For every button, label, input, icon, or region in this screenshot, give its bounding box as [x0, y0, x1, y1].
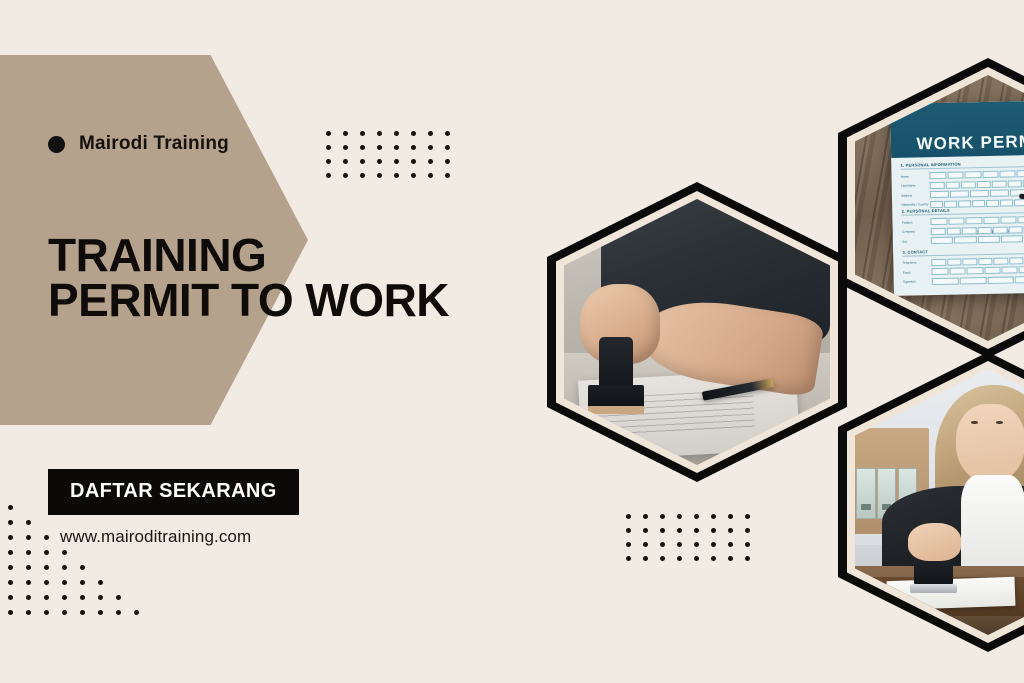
grid-dot	[660, 514, 665, 519]
page-title: TRAINING PERMIT TO WORK	[48, 233, 568, 323]
form-field-boxes	[931, 225, 1024, 235]
dot-row	[8, 610, 152, 625]
binder	[856, 468, 876, 519]
dot-grid-middle	[626, 514, 762, 570]
grid-dot	[677, 542, 682, 547]
filled-circle-icon	[48, 136, 65, 153]
grid-dot	[8, 535, 13, 540]
dot-row	[8, 550, 152, 565]
photo-hex-hand-stamping	[547, 182, 847, 482]
headline-line-1: TRAINING	[48, 229, 266, 281]
grid-dot	[98, 580, 103, 585]
grid-dot	[626, 528, 631, 533]
form-field-row: Name	[901, 169, 1024, 180]
form-section-2: 2. PERSONAL DETAILS Position Company Sex	[902, 205, 1024, 247]
grid-dot	[728, 528, 733, 533]
form-field-label: Last Name	[901, 183, 928, 188]
grid-dot	[694, 514, 699, 519]
form-field-label: Company	[902, 229, 929, 234]
dot-row	[8, 595, 152, 610]
grid-dot	[8, 505, 13, 510]
grid-dot	[326, 173, 331, 178]
dot-row	[8, 505, 152, 520]
document-title: WORK PERMIT	[891, 130, 1024, 154]
grid-dot	[694, 542, 699, 547]
form-field-boxes	[932, 265, 1024, 275]
grid-dot	[326, 145, 331, 150]
photo-hex-businesswoman	[838, 352, 1024, 652]
grid-dot	[445, 159, 450, 164]
grid-dot	[445, 131, 450, 136]
scene-work-permit: WORK PERMIT APPLICATION FORM 1. PERSONAL…	[855, 75, 1024, 341]
grid-dot	[377, 131, 382, 136]
grid-dot	[116, 595, 121, 600]
grid-dot	[360, 145, 365, 150]
dot-grid-top	[326, 131, 462, 187]
hex-photo-clip	[855, 369, 1024, 635]
grid-dot	[660, 556, 665, 561]
grid-dot	[377, 159, 382, 164]
rubber-stamp-pad	[588, 406, 644, 414]
form-field-row: Signature Date	[903, 274, 1024, 285]
face	[956, 404, 1024, 484]
grid-dot	[62, 595, 67, 600]
grid-dot	[26, 550, 31, 555]
grid-dot	[626, 514, 631, 519]
form-section-1: 1. PERSONAL INFORMATION Name Last Name A…	[901, 159, 1024, 210]
form-section-1-title: 1. PERSONAL INFORMATION	[901, 159, 1024, 170]
grid-dot	[411, 131, 416, 136]
grid-dot	[80, 610, 85, 615]
grid-dot	[428, 131, 433, 136]
brand-name: Mairodi Training	[79, 133, 229, 155]
grid-dot	[728, 514, 733, 519]
scene-businesswoman	[855, 369, 1024, 635]
grid-dot	[394, 173, 399, 178]
form-field-row: Company	[902, 225, 1024, 236]
dot-row	[8, 580, 152, 595]
grid-dot	[326, 131, 331, 136]
grid-dot	[8, 550, 13, 555]
form-field-boxes	[932, 275, 1024, 284]
dot-triangle-bottom-left	[8, 505, 152, 625]
grid-dot	[62, 550, 67, 555]
grid-dot	[411, 159, 416, 164]
grid-dot	[728, 556, 733, 561]
form-field-row: Telephone	[903, 255, 1024, 266]
grid-dot	[44, 610, 49, 615]
grid-dot	[8, 520, 13, 525]
form-field-boxes	[930, 169, 1024, 179]
grid-dot	[745, 556, 750, 561]
grid-dot	[711, 542, 716, 547]
poster-canvas: Mairodi Training TRAINING PERMIT TO WORK…	[0, 0, 1024, 683]
form-field-label: Position	[902, 220, 929, 225]
grid-dot	[98, 610, 103, 615]
hand-on-stamp	[908, 523, 961, 560]
grid-dot	[445, 145, 450, 150]
grid-dot	[343, 145, 348, 150]
grid-dot	[80, 595, 85, 600]
grid-dot	[44, 580, 49, 585]
dot-row	[8, 520, 152, 535]
grid-dot	[745, 528, 750, 533]
grid-dot	[343, 131, 348, 136]
grid-dot	[660, 542, 665, 547]
grid-dot	[62, 610, 67, 615]
rubber-stamp-handle	[599, 337, 634, 390]
form-field-label: Address	[901, 193, 928, 198]
form-field-boxes	[931, 215, 1024, 225]
grid-dot	[343, 159, 348, 164]
grid-dot	[80, 565, 85, 570]
grid-dot	[8, 610, 13, 615]
form-field-label: Name	[901, 174, 928, 179]
form-field-label: Email	[903, 269, 930, 274]
grid-dot	[360, 159, 365, 164]
grid-dot	[394, 131, 399, 136]
work-permit-document: WORK PERMIT APPLICATION FORM 1. PERSONAL…	[890, 100, 1024, 295]
grid-dot	[116, 610, 121, 615]
grid-dot	[394, 159, 399, 164]
grid-dot	[411, 145, 416, 150]
grid-dot	[26, 535, 31, 540]
grid-dot	[26, 520, 31, 525]
grid-dot	[643, 514, 648, 519]
form-field-boxes	[932, 255, 1024, 265]
grid-dot	[445, 173, 450, 178]
grid-dot	[411, 173, 416, 178]
form-field-label: Telephone	[903, 260, 930, 265]
eye	[996, 421, 1003, 423]
eye	[971, 421, 978, 423]
grid-dot	[677, 556, 682, 561]
grid-dot	[711, 556, 716, 561]
grid-dot	[343, 173, 348, 178]
form-field-row: Sex	[902, 234, 1024, 245]
grid-dot	[80, 580, 85, 585]
grid-dot	[677, 528, 682, 533]
form-section-3: 3. CONTACT Telephone Email Signature	[903, 245, 1024, 287]
grid-dot	[360, 131, 365, 136]
grid-dot	[377, 145, 382, 150]
grid-dot	[377, 173, 382, 178]
form-field-label: Nationality / Country	[902, 202, 929, 207]
grid-dot	[643, 556, 648, 561]
grid-dot	[394, 145, 399, 150]
grid-dot	[626, 556, 631, 561]
form-field-boxes	[931, 234, 1024, 244]
grid-dot	[745, 514, 750, 519]
grid-dot	[44, 535, 49, 540]
form-field-row: Address	[901, 188, 1024, 199]
grid-dot	[8, 580, 13, 585]
grid-dot	[694, 528, 699, 533]
form-field-boxes	[930, 179, 1024, 189]
grid-dot	[44, 550, 49, 555]
grid-dot	[360, 173, 365, 178]
grid-dot	[62, 580, 67, 585]
hex-photo-clip: WORK PERMIT APPLICATION FORM 1. PERSONAL…	[855, 75, 1024, 341]
form-field-row: Position	[902, 215, 1024, 226]
grid-dot	[62, 565, 67, 570]
form-field-label: Signature	[903, 279, 930, 284]
grid-dot	[44, 595, 49, 600]
dot-row	[8, 535, 152, 550]
grid-dot	[428, 145, 433, 150]
grid-dot	[98, 595, 103, 600]
grid-dot	[8, 565, 13, 570]
grid-dot	[26, 595, 31, 600]
grid-dot	[711, 528, 716, 533]
grid-dot	[626, 542, 631, 547]
grid-dot	[711, 514, 716, 519]
form-field-row: Email	[903, 265, 1024, 276]
grid-dot	[643, 528, 648, 533]
grid-dot	[134, 610, 139, 615]
grid-dot	[26, 610, 31, 615]
photo-hex-work-permit: WORK PERMIT APPLICATION FORM 1. PERSONAL…	[838, 58, 1024, 358]
grid-dot	[660, 528, 665, 533]
grid-dot	[728, 542, 733, 547]
grid-dot	[694, 556, 699, 561]
grid-dot	[8, 595, 13, 600]
form-field-boxes	[930, 188, 1024, 198]
form-field-row: Last Name	[901, 179, 1024, 190]
grid-dot	[44, 565, 49, 570]
grid-dot	[428, 173, 433, 178]
grid-dot	[26, 565, 31, 570]
brand-lockup: Mairodi Training	[48, 133, 229, 155]
grid-dot	[26, 580, 31, 585]
grid-dot	[677, 514, 682, 519]
grid-dot	[745, 542, 750, 547]
grid-dot	[326, 159, 331, 164]
dot-row	[8, 565, 152, 580]
grid-dot	[428, 159, 433, 164]
grid-dot	[643, 542, 648, 547]
headline-line-2: PERMIT TO WORK	[48, 278, 568, 323]
form-field-label: Sex	[902, 239, 929, 244]
